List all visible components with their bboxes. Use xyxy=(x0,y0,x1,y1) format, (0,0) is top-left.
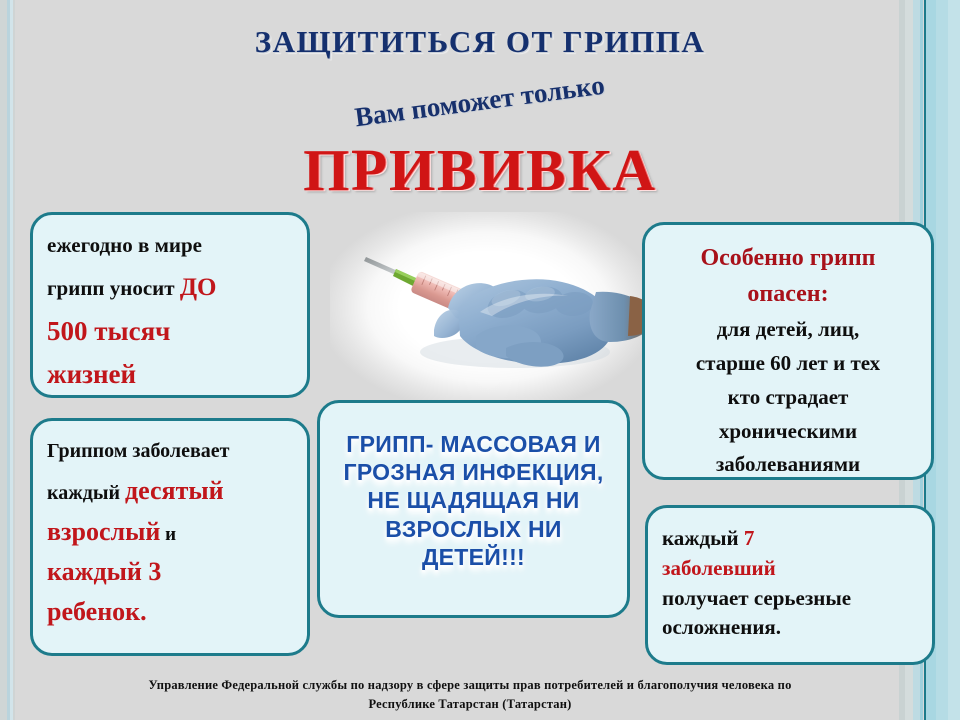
risk-line-3: кто страдает xyxy=(659,383,917,413)
incidence-line-3: взрослый и xyxy=(47,514,293,551)
fact-box-statement-content: ГРИПП- МАССОВАЯ И ГРОЗНАЯ ИНФЕКЦИЯ, НЕ Щ… xyxy=(320,403,627,570)
footer-line-1: Управление Федеральной службы по надзору… xyxy=(40,676,900,695)
deaths-line-2-accent: ДО xyxy=(180,274,217,301)
risk-heading-2: опасен: xyxy=(659,277,917,311)
complications-line-4: осложнения. xyxy=(662,613,918,643)
risk-line-5: заболеваниями xyxy=(659,450,917,480)
headline-vaccination: ПРИВИВКА xyxy=(0,136,960,205)
fact-box-deaths: ежегодно в мире грипп уносит ДО 500 тыся… xyxy=(30,212,310,398)
statement-line-2: ГРОЗНАЯ ИНФЕКЦИЯ, xyxy=(334,459,613,485)
complications-line-1-accent: 7 xyxy=(744,526,755,550)
deaths-line-1: ежегодно в мире xyxy=(47,231,293,261)
fact-box-risk-groups: Особенно грипп опасен: для детей, лиц, с… xyxy=(642,222,934,480)
statement-line-3: НЕ ЩАДЯЩАЯ НИ xyxy=(334,487,613,513)
fact-box-statement: ГРИПП- МАССОВАЯ И ГРОЗНАЯ ИНФЕКЦИЯ, НЕ Щ… xyxy=(317,400,630,618)
incidence-line-2-accent: десятый xyxy=(125,476,224,505)
risk-line-2: старше 60 лет и тех xyxy=(659,349,917,379)
incidence-line-3-plain: и xyxy=(160,524,176,545)
incidence-line-4: каждый 3 xyxy=(47,554,293,591)
poster-canvas: ЗАЩИТИТЬСЯ ОТ ГРИППА Вам поможет только … xyxy=(0,0,960,720)
incidence-line-3-accent: взрослый xyxy=(47,517,160,546)
page-title: ЗАЩИТИТЬСЯ ОТ ГРИППА xyxy=(0,24,960,60)
page-subtitle: Вам поможет только xyxy=(353,70,606,134)
fact-box-incidence: Гриппом заболевает каждый десятый взросл… xyxy=(30,418,310,656)
complications-line-1-plain: каждый xyxy=(662,526,744,550)
deaths-line-2: грипп уносит ДО xyxy=(47,270,293,306)
fact-box-deaths-content: ежегодно в мире грипп уносит ДО 500 тыся… xyxy=(33,215,307,393)
fact-box-risk-groups-content: Особенно грипп опасен: для детей, лиц, с… xyxy=(645,225,931,480)
risk-line-1: для детей, лиц, xyxy=(659,315,917,345)
fact-box-complications: каждый 7 заболевший получает серьезные о… xyxy=(645,505,935,665)
risk-line-4: хроническими xyxy=(659,417,917,447)
syringe-illustration xyxy=(330,212,660,402)
statement-line-1: ГРИПП- МАССОВАЯ И xyxy=(334,431,613,457)
incidence-line-2: каждый десятый xyxy=(47,473,293,510)
statement-line-4: ВЗРОСЛЫХ НИ xyxy=(334,516,613,542)
incidence-line-2-plain: каждый xyxy=(47,482,125,504)
complications-line-2: заболевший xyxy=(662,554,918,584)
statement-line-5: ДЕТЕЙ!!! xyxy=(334,544,613,570)
footer-line-2: Республике Татарстан (Татарстан) xyxy=(40,695,900,714)
incidence-line-1: Гриппом заболевает xyxy=(47,437,293,465)
fact-box-complications-content: каждый 7 заболевший получает серьезные о… xyxy=(648,508,932,643)
footer-authority: Управление Федеральной службы по надзору… xyxy=(40,676,900,715)
complications-line-1: каждый 7 xyxy=(662,524,918,554)
syringe-photo xyxy=(330,212,660,402)
deaths-line-3: 500 тысяч xyxy=(47,312,293,350)
deaths-line-4: жизней xyxy=(47,355,293,393)
fact-box-incidence-content: Гриппом заболевает каждый десятый взросл… xyxy=(33,421,307,631)
risk-heading-1: Особенно грипп xyxy=(659,241,917,275)
deaths-line-2-plain: грипп уносит xyxy=(47,276,180,300)
incidence-line-5: ребенок. xyxy=(47,594,293,631)
complications-line-3: получает серьезные xyxy=(662,584,918,614)
subtitle-wrapper: Вам поможет только xyxy=(0,86,960,117)
